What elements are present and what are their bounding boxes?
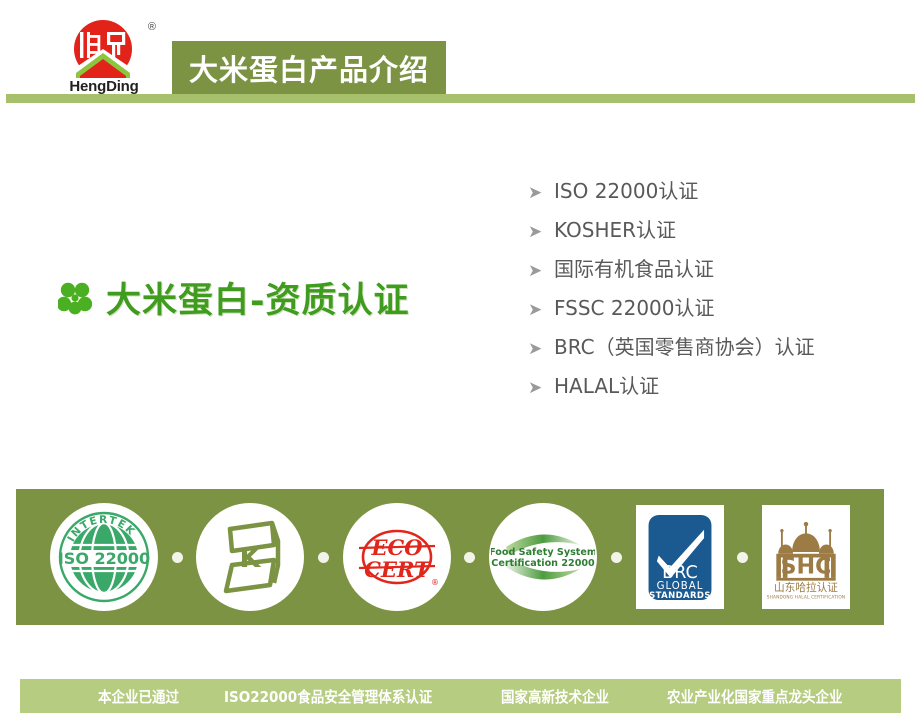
list-item-label: KOSHER认证 xyxy=(554,214,676,243)
list-item: ➤ 国际有机食品认证 xyxy=(528,253,908,292)
footer-text-iso22000: ISO22000食品安全管理体系认证 xyxy=(224,686,432,707)
kosher-glyph: K xyxy=(198,505,302,609)
logo-slot: ISO 22000 INTERTEK xyxy=(50,503,158,611)
shc-halal-glyph: SHC 山东哈拉认证 SHANDONG HALAL CERTIFICATION xyxy=(767,513,845,602)
flower-icon xyxy=(58,281,92,315)
fssc-22000-glyph: Food Safety System Certification 22000 xyxy=(491,505,595,609)
footer-text-high-tech-enterprise: 国家高新技术企业 xyxy=(501,686,609,707)
arrow-bullet-icon: ➤ xyxy=(528,301,554,318)
footer-text-company-certified: 本企业已通过 xyxy=(98,686,179,707)
fssc-22000-logo: Food Safety System Certification 22000 xyxy=(489,503,597,611)
separator-dot xyxy=(464,552,475,563)
certification-logo-band: ISO 22000 INTERTEK K xyxy=(16,489,884,625)
kosher-logo: K xyxy=(196,503,304,611)
list-item-label: BRC（英国零售商协会）认证 xyxy=(554,331,815,360)
page-title: 大米蛋白产品介绍 xyxy=(189,47,429,89)
iso-22000-intertek-glyph: ISO 22000 INTERTEK xyxy=(52,505,156,609)
logo-slot: ECO CERT ® xyxy=(343,503,451,611)
separator-dot xyxy=(318,552,329,563)
logo-slot: SHC 山东哈拉认证 SHANDONG HALAL CERTIFICATION xyxy=(762,505,850,609)
ecocert-glyph: ECO CERT ® xyxy=(345,505,449,609)
page-header: ® HengDing 大米蛋白产品介绍 xyxy=(0,0,921,103)
registered-mark-icon: ® xyxy=(431,578,439,587)
iso-22000-intertek-logo: ISO 22000 INTERTEK xyxy=(50,503,158,611)
separator-dot xyxy=(737,552,748,563)
arrow-bullet-icon: ➤ xyxy=(528,223,554,240)
list-item-label: ISO 22000认证 xyxy=(554,175,698,204)
separator-dot xyxy=(611,552,622,563)
arrow-bullet-icon: ➤ xyxy=(528,262,554,279)
registered-mark-icon: ® xyxy=(148,22,156,33)
shc-line2: 山东哈拉认证 xyxy=(774,580,838,593)
hengding-logo-mark xyxy=(66,20,140,78)
fssc-line2: Certification 22000 xyxy=(491,558,595,569)
list-item: ➤ BRC（英国零售商协会）认证 xyxy=(528,331,908,370)
logo-slot: BRC GLOBAL STANDARDS xyxy=(636,505,724,609)
list-item: ➤ KOSHER认证 xyxy=(528,214,908,253)
section-heading-text: 大米蛋白-资质认证 xyxy=(106,272,410,323)
list-item: ➤ ISO 22000认证 xyxy=(528,175,908,214)
list-item: ➤ HALAL认证 xyxy=(528,370,908,409)
separator-dot xyxy=(172,552,183,563)
iso-22000-text: ISO 22000 xyxy=(58,549,150,568)
logo-slot: Food Safety System Certification 22000 xyxy=(489,503,597,611)
arrow-bullet-icon: ➤ xyxy=(528,184,554,201)
brc-line1: BRC xyxy=(662,562,698,582)
shc-line3: SHANDONG HALAL CERTIFICATION xyxy=(767,594,845,600)
list-item-label: FSSC 22000认证 xyxy=(554,292,715,321)
page-footer: 本企业已通过 ISO22000食品安全管理体系认证 国家高新技术企业 农业产业化… xyxy=(20,679,901,713)
logo-slot: K xyxy=(196,503,304,611)
shc-halal-logo: SHC 山东哈拉认证 SHANDONG HALAL CERTIFICATION xyxy=(762,505,850,609)
arrow-bullet-icon: ➤ xyxy=(528,340,554,357)
list-item: ➤ FSSC 22000认证 xyxy=(528,292,908,331)
brc-line3: STANDARDS xyxy=(649,591,711,601)
fssc-line1: Food Safety System xyxy=(491,547,595,558)
brc-glyph: BRC GLOBAL STANDARDS xyxy=(643,513,717,602)
kosher-letter: K xyxy=(240,543,262,574)
list-item-label: HALAL认证 xyxy=(554,370,659,399)
shc-line1: SHC xyxy=(780,553,831,579)
hengding-wordmark: HengDing xyxy=(52,78,156,95)
ecocert-logo: ECO CERT ® xyxy=(343,503,451,611)
arrow-bullet-icon: ➤ xyxy=(528,379,554,396)
list-item-label: 国际有机食品认证 xyxy=(554,253,714,282)
section-heading-group: 大米蛋白-资质认证 xyxy=(58,272,410,323)
brc-global-standards-logo: BRC GLOBAL STANDARDS xyxy=(636,505,724,609)
certification-list: ➤ ISO 22000认证 ➤ KOSHER认证 ➤ 国际有机食品认证 ➤ FS… xyxy=(528,175,908,409)
footer-text-leading-enterprise: 农业产业化国家重点龙头企业 xyxy=(667,686,843,707)
header-divider xyxy=(6,94,915,103)
ecocert-line2: CERT xyxy=(364,557,431,582)
hengding-logo: ® HengDing xyxy=(52,20,156,98)
page-title-box: 大米蛋白产品介绍 xyxy=(172,41,446,94)
